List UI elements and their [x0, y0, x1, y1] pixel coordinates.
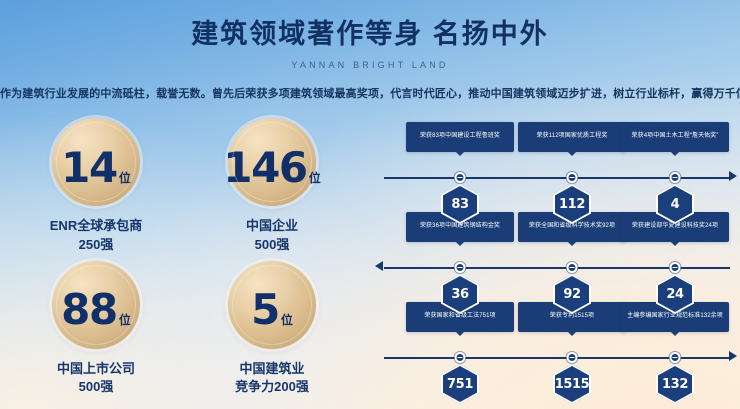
stat-label-line1: ENR全球承包商: [50, 217, 142, 236]
timeline-row: 荣获国家和省级工法751项 751 荣获专利1515项 1515 主编参编国家行…: [378, 302, 734, 392]
stat-unit: 位: [119, 169, 131, 186]
stat-unit: 位: [309, 169, 321, 186]
stat-unit: 位: [119, 311, 131, 328]
timeline-row: 荣获83项中国建设工程鲁班奖 83 荣获112项国家优质工程奖 112 荣获4项…: [378, 122, 734, 212]
stat-number: 5: [251, 292, 279, 328]
stat-medallion: 14 位: [52, 118, 140, 206]
awards-timeline: 荣获83项中国建设工程鲁班奖 83 荣获112项国家优质工程奖 112 荣获4项…: [378, 122, 734, 402]
timeline-item[interactable]: 荣获4项中国土木工程“詹天佑奖” 4: [621, 122, 729, 152]
stat-label: 中国建筑业 竞争力200强: [235, 360, 309, 398]
timeline-node-icon: [455, 262, 466, 273]
stat-label-line1: 中国建筑业: [235, 360, 309, 379]
stat-label-line1: 中国企业: [246, 217, 298, 236]
arrow-left-icon: [375, 261, 383, 271]
count-value: 83: [451, 197, 468, 212]
stat-medallion: 146 位: [228, 118, 316, 206]
stats-grid: 14 位 ENR全球承包商 250强 146 位 中国企业 500强 88 位: [8, 118, 360, 403]
stat-label-line2: 500强: [246, 236, 298, 255]
count-value: 751: [447, 377, 473, 392]
timeline-node-icon: [567, 352, 578, 363]
award-label: 荣获4项中国土木工程“詹天佑奖”: [621, 122, 729, 152]
count-value: 112: [559, 197, 585, 212]
timeline-node-icon: [567, 262, 578, 273]
stat-card: 5 位 中国建筑业 竞争力200强: [184, 261, 360, 404]
timeline-row: 荣获36项中国建筑钢结构金奖 36 荣获全国和省级科学技术奖92项 92 荣获建…: [378, 212, 734, 302]
stat-card: 14 位 ENR全球承包商 250强: [8, 118, 184, 261]
count-value: 24: [666, 287, 683, 302]
stat-number: 14: [61, 150, 117, 186]
count-value: 1515: [555, 377, 590, 392]
page-title: 建筑领域著作等身 名扬中外: [0, 19, 740, 51]
page-header: 建筑领域著作等身 名扬中外 YANNAN BRIGHT LAND 作为建筑行业发…: [0, 0, 740, 101]
timeline-node-icon: [455, 352, 466, 363]
count-value: 132: [662, 377, 688, 392]
timeline-item[interactable]: 荣获112项国家优质工程奖 112: [518, 122, 626, 152]
stat-unit: 位: [281, 311, 293, 328]
count-value: 92: [563, 287, 580, 302]
timeline-node-icon: [670, 352, 681, 363]
arrow-right-icon: [729, 351, 737, 361]
award-label: 荣获112项国家优质工程奖: [518, 122, 626, 152]
stat-label-line2: 竞争力200强: [235, 378, 309, 397]
stat-medallion: 5 位: [228, 261, 316, 349]
stat-label-line1: 中国上市公司: [57, 360, 135, 379]
arrow-right-icon: [729, 171, 737, 181]
stat-number: 88: [61, 292, 117, 328]
stat-card: 146 位 中国企业 500强: [184, 118, 360, 261]
timeline-node-icon: [670, 262, 681, 273]
stat-label-line2: 250强: [50, 236, 142, 255]
count-badge: 1515: [553, 364, 591, 404]
stat-card: 88 位 中国上市公司 500强: [8, 261, 184, 404]
stat-number: 146: [223, 150, 306, 186]
timeline-item[interactable]: 荣获83项中国建设工程鲁班奖 83: [406, 122, 514, 152]
stat-label: 中国上市公司 500强: [57, 360, 135, 398]
award-label: 荣获83项中国建设工程鲁班奖: [406, 122, 514, 152]
timeline-node-icon: [567, 172, 578, 183]
count-value: 4: [671, 197, 680, 212]
count-badge: 751: [441, 364, 479, 404]
stat-label-line2: 500强: [57, 378, 135, 397]
stat-label: ENR全球承包商 250强: [50, 217, 142, 255]
timeline-node-icon: [670, 172, 681, 183]
stat-medallion: 88 位: [52, 261, 140, 349]
count-badge: 132: [656, 364, 694, 404]
page-description: 作为建筑行业发展的中流砥柱，载誉无数。曾先后荣获多项建筑领域最高奖项，代言时代匠…: [0, 85, 740, 101]
timeline-node-icon: [455, 172, 466, 183]
page-subtitle: YANNAN BRIGHT LAND: [0, 60, 740, 70]
stat-label: 中国企业 500强: [246, 217, 298, 255]
count-value: 36: [451, 287, 468, 302]
